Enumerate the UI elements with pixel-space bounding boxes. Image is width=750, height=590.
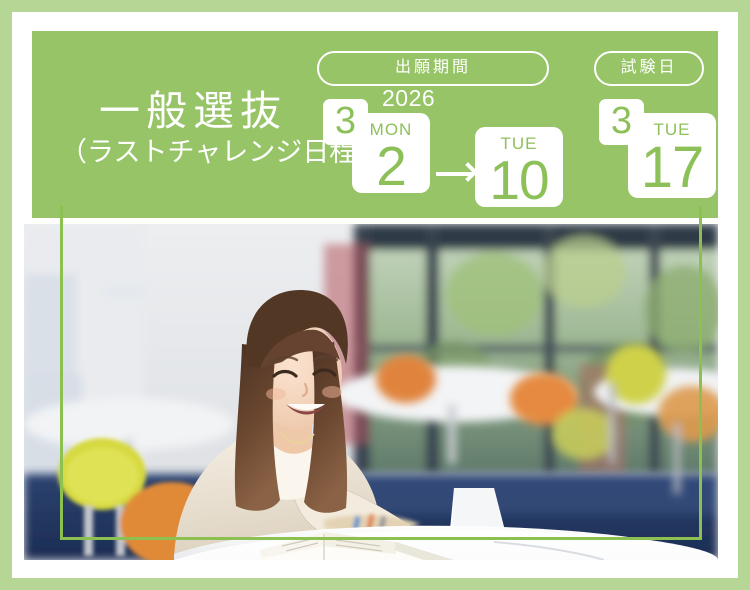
banner-inner-frame: 出願期間 試験日 一般選抜 （ラストチャレンジ日程） 2026 3 MON 2 [12, 12, 738, 578]
application-year: 2026 [382, 87, 435, 110]
application-start-day: 2 [352, 138, 430, 192]
page-title: 一般選抜 [60, 89, 320, 133]
page-subtitle: （ラストチャレンジ日程） [60, 135, 320, 170]
application-end-day: 10 [475, 152, 563, 206]
exam-month-chip: 3 [599, 99, 644, 145]
date-range-arrow-icon [436, 165, 476, 183]
title-block: 一般選抜 （ラストチャレンジ日程） [60, 89, 320, 170]
arrow-head [458, 162, 478, 182]
exam-date-label: 試験日 [594, 51, 704, 86]
application-period-label: 出願期間 [317, 51, 549, 86]
student-photo [24, 224, 718, 560]
exam-day: 17 [628, 138, 716, 195]
application-start-month-chip: 3 [323, 99, 368, 145]
application-end-date-card: TUE 10 [475, 127, 563, 207]
admission-banner: 出願期間 試験日 一般選抜 （ラストチャレンジ日程） 2026 3 MON 2 [0, 0, 750, 590]
header-green-band: 出願期間 試験日 一般選抜 （ラストチャレンジ日程） 2026 3 MON 2 [32, 31, 718, 218]
